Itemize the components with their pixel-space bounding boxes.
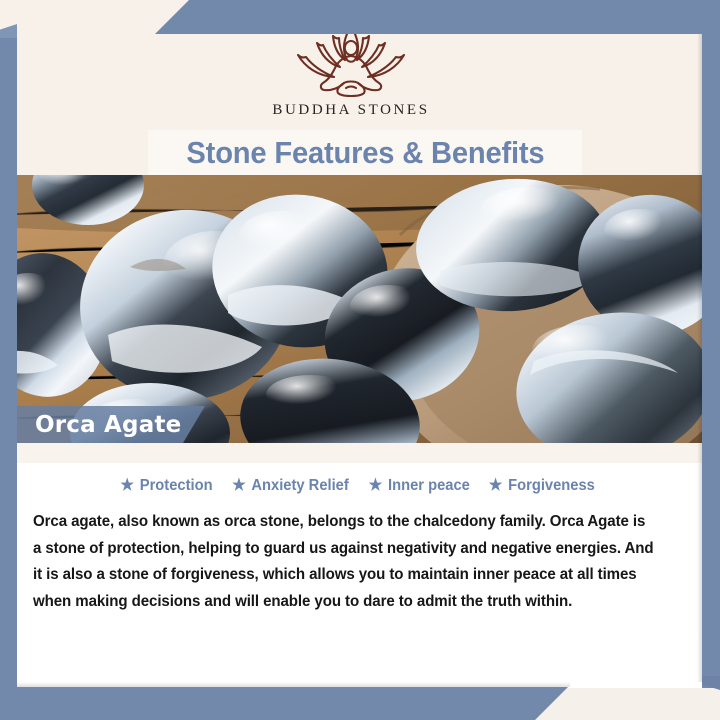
page-title-plaque: Stone Features & Benefits [148, 130, 582, 175]
benefit-item-protection: ★ Protection [120, 477, 212, 495]
description-text: Orca agate, also known as orca stone, be… [33, 509, 658, 615]
card-canvas: BUDDHA STONES Stone Features & Benefits [0, 0, 702, 688]
benefit-label: Protection [140, 477, 213, 495]
star-icon: ★ [369, 478, 383, 494]
star-icon: ★ [232, 478, 246, 494]
orca-agate-stones-image [0, 175, 702, 443]
frame-band-left [0, 32, 17, 687]
stone-name: Orca Agate [35, 412, 181, 438]
stone-name-banner: Orca Agate [14, 406, 205, 443]
product-info-card: BUDDHA STONES Stone Features & Benefits [0, 0, 720, 720]
frame-band-top [155, 0, 720, 34]
page-title: Stone Features & Benefits [186, 135, 544, 171]
brand-name: BUDDHA STONES [272, 102, 429, 119]
benefit-label: Forgiveness [508, 477, 595, 495]
frame-band-bottom [0, 687, 568, 720]
benefit-item-anxiety-relief: ★ Anxiety Relief [232, 477, 349, 495]
benefit-label: Anxiety Relief [251, 477, 348, 495]
benefits-list: ★ Protection ★ Anxiety Relief ★ Inner pe… [14, 477, 702, 495]
frame-band-right [702, 34, 720, 688]
star-icon: ★ [489, 478, 503, 494]
benefit-label: Inner peace [388, 477, 470, 495]
frame-shadow-bottom [14, 682, 570, 687]
brand-logo: BUDDHA STONES [0, 22, 702, 119]
product-photo [0, 175, 702, 443]
benefit-item-forgiveness: ★ Forgiveness [489, 477, 595, 495]
content-divider [14, 443, 702, 463]
star-icon: ★ [120, 478, 134, 494]
benefit-item-inner-peace: ★ Inner peace [369, 477, 470, 495]
description-panel: ★ Protection ★ Anxiety Relief ★ Inner pe… [14, 463, 702, 688]
